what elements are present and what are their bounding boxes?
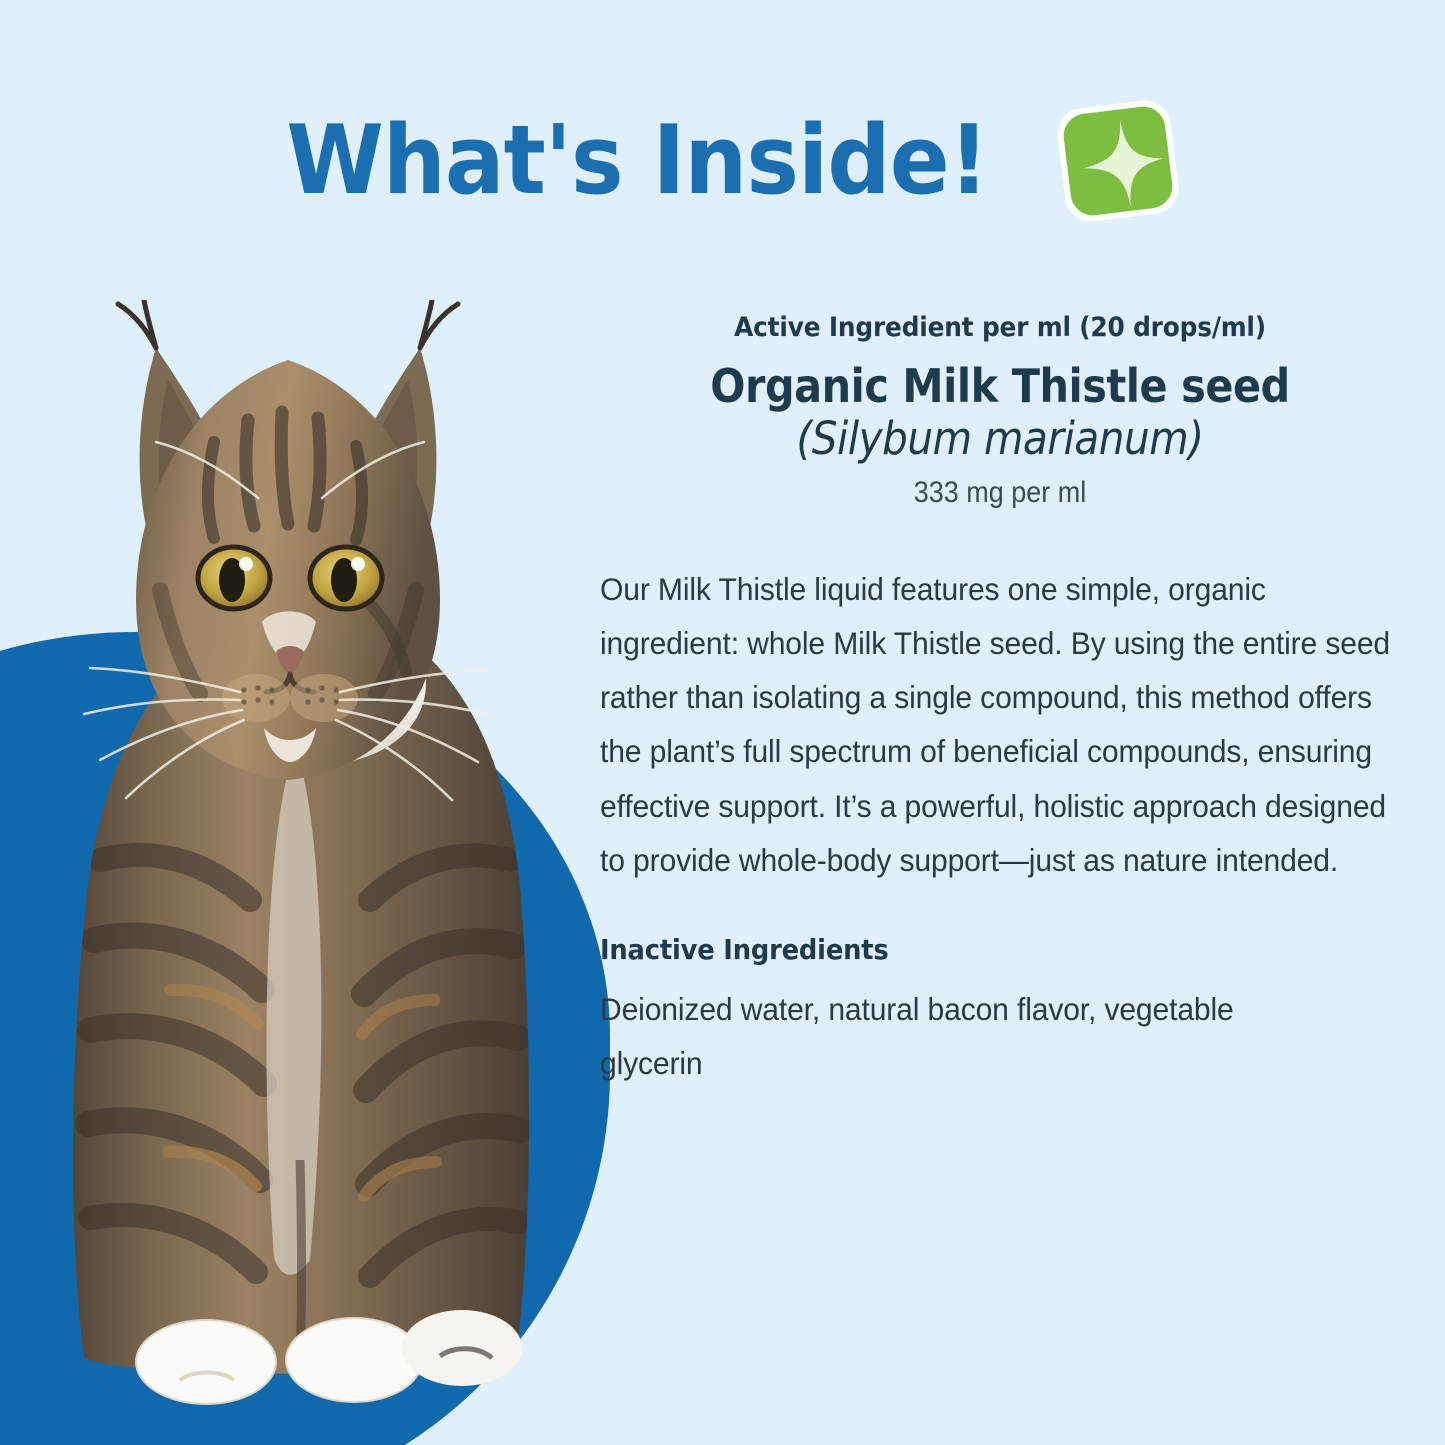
active-ingredient-label: Active Ingredient per ml (20 drops/ml): [632, 312, 1368, 343]
inactive-ingredients-list: Deionized water, natural bacon flavor, v…: [600, 982, 1326, 1090]
cat-photo: [10, 300, 590, 1440]
product-info-panel: What's Inside!: [0, 0, 1445, 1445]
ingredient-content: Active Ingredient per ml (20 drops/ml) O…: [600, 312, 1400, 1090]
sparkle-icon: [1051, 94, 1185, 228]
description-paragraph: Our Milk Thistle liquid features one sim…: [600, 562, 1393, 887]
header: What's Inside!: [0, 96, 1445, 226]
active-ingredient-latin-name: (Silybum marianum): [640, 413, 1360, 464]
inactive-ingredients-heading: Inactive Ingredients: [600, 933, 1336, 966]
page-title: What's Inside!: [287, 114, 989, 209]
active-ingredient-dose: 333 mg per ml: [640, 476, 1360, 510]
active-ingredient-name: Organic Milk Thistle seed: [640, 361, 1360, 413]
